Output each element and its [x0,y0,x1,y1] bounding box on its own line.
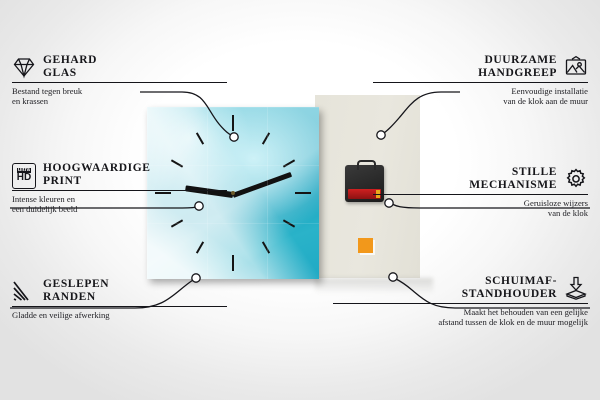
feature-gehard-glas: GEHARD GLAS Bestand tegen breuk en krass… [12,54,227,107]
feature-title-line1: SCHUIMAF- [462,275,557,288]
feature-desc-line1: Eenvoudige installatie [373,86,588,96]
clock-tick-11 [196,132,204,144]
feature-duurzame-handgreep: DUURZAME HANDGREEP Eenvoudige installati… [373,54,588,107]
clock-center-pin [231,191,235,195]
feature-title-line2: RANDEN [43,291,109,304]
feature-desc-line2: en krassen [12,96,227,106]
feature-rule [12,82,227,83]
picture-frame-icon [564,55,588,79]
feature-rule [333,303,588,304]
feature-title-line2: GLAS [43,67,97,80]
feature-hoogwaardige-print: ultra HD HOOGWAARDIGE PRINT Intense kleu… [12,162,227,215]
clock-tick-4 [283,219,295,227]
gear-icon [564,167,588,191]
feature-schuimafstandhouder: SCHUIMAF- STANDHOUDER Maakt het behouden… [333,275,588,328]
feature-desc-line1: Bestand tegen breuk [12,86,227,96]
feature-desc-line1: Intense kleuren en [12,194,227,204]
spacer-press-icon [564,276,588,300]
feature-title-line1: STILLE [469,166,557,179]
feature-geslepen-randen: GESLEPEN RANDEN Gladde en veilige afwerk… [12,278,227,320]
feature-desc-line2: een duidelijk beeld [12,204,227,214]
clock-tick-8 [171,219,183,227]
feature-rule [373,82,588,83]
foam-spacer-pad [358,238,373,253]
clock-tick-5 [262,241,270,253]
feature-title-line1: GEHARD [43,54,97,67]
feature-rule [12,190,227,191]
clock-minute-hand [232,172,292,198]
feature-desc-line1: Gladde en veilige afwerking [12,310,227,320]
feature-title-line1: HOOGWAARDIGE [43,162,151,175]
infographic-canvas: GEHARD GLAS Bestand tegen breuk en krass… [0,0,600,400]
feature-desc-line2: afstand tussen de klok en de muur mogeli… [333,317,588,327]
feature-desc-line1: Geruisloze wijzers [373,198,588,208]
feature-title-line2: PRINT [43,175,151,188]
ultra-hd-icon-main: HD [17,173,31,183]
feature-title-line1: GESLEPEN [43,278,109,291]
clock-tick-7 [196,241,204,253]
ultra-hd-icon: ultra HD [12,163,36,187]
feature-desc-line2: van de klok aan de muur [373,96,588,106]
feature-stille-mechanisme: STILLE MECHANISME Geruisloze wijzers van… [373,166,588,219]
feature-rule [12,306,227,307]
clock-tick-2 [283,159,295,167]
clock-tick-1 [262,132,270,144]
feature-rule [373,194,588,195]
clock-tick-12 [232,115,234,131]
clock-tick-3 [295,192,311,194]
clock-tick-6 [232,255,234,271]
feature-title-line1: DUURZAME [478,54,557,67]
diagonal-lines-icon [12,279,36,303]
feature-title-line2: HANDGREEP [478,67,557,80]
feature-desc-line2: van de klok [373,208,588,218]
feature-title-line2: STANDHOUDER [462,288,557,301]
feature-title-line2: MECHANISME [469,179,557,192]
feature-desc-line1: Maakt het behouden van een gelijke [333,307,588,317]
diamond-icon [12,55,36,79]
